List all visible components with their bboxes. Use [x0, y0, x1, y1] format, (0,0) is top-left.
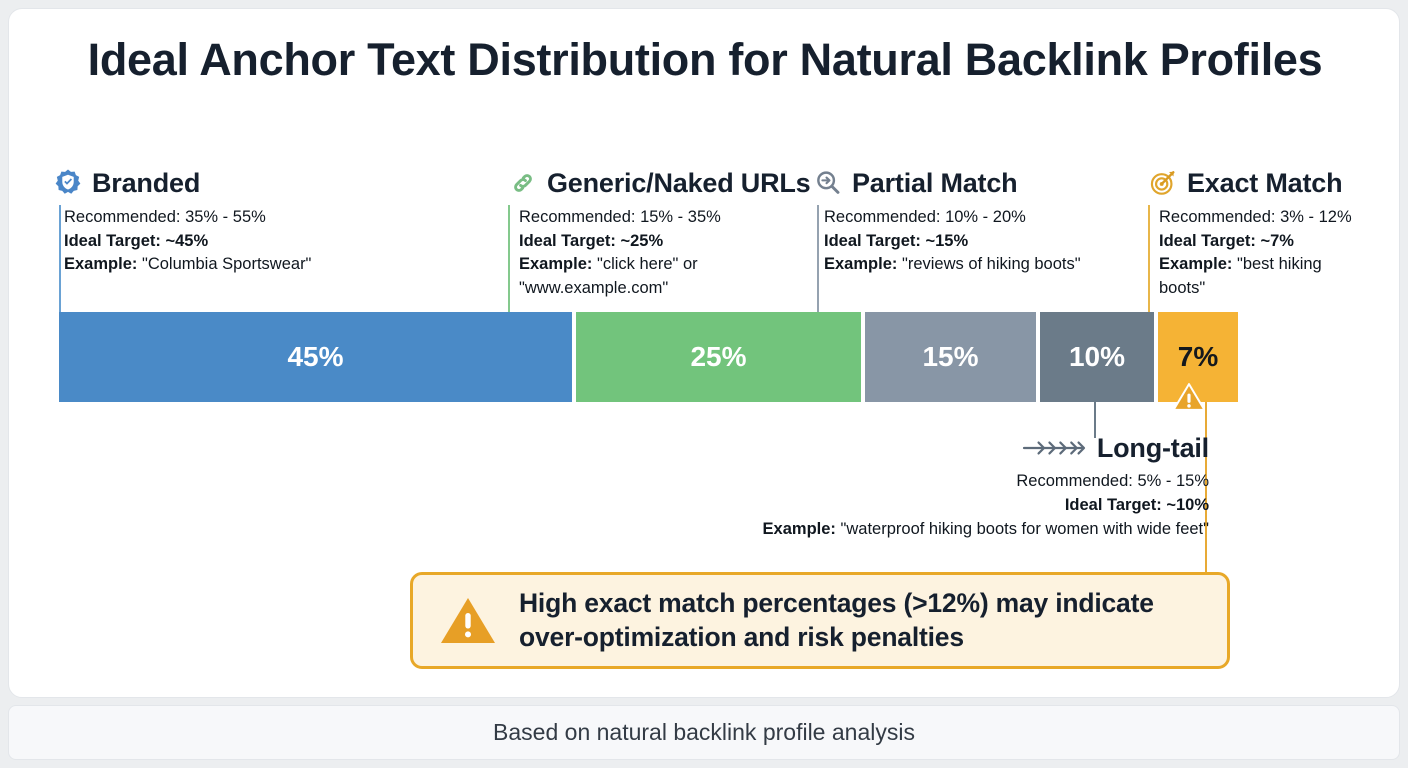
recommended-label: Recommended: — [1016, 472, 1132, 490]
long-tail-header: Long-tail — [609, 431, 1209, 465]
recommended-label: Recommended: — [519, 208, 635, 226]
ideal-target-value: ~15% — [925, 232, 968, 250]
example-value: "reviews of hiking boots" — [902, 255, 1081, 273]
category-name: Exact Match — [1187, 168, 1342, 199]
warning-triangle-icon — [439, 595, 497, 647]
magnifier-arrow-icon — [813, 168, 843, 198]
bar-segment-partial[interactable]: 15% — [865, 312, 1036, 402]
footer-bar: Based on natural backlink profile analys… — [8, 705, 1400, 760]
long-tail-name: Long-tail — [1097, 433, 1209, 464]
ideal-target-value: ~10% — [1166, 496, 1209, 514]
link-chain-icon — [508, 168, 538, 198]
category-panel-branded: Branded Recommended: 35% - 55% Ideal Tar… — [53, 164, 508, 306]
category-name: Branded — [92, 168, 200, 199]
bar-segment-value: 7% — [1178, 341, 1218, 373]
ideal-target-value: ~7% — [1260, 232, 1293, 250]
ideal-target-label: Ideal Target: — [824, 232, 921, 250]
category-panels: Branded Recommended: 35% - 55% Ideal Tar… — [53, 164, 1233, 309]
warning-callout-text: High exact match percentages (>12%) may … — [519, 587, 1154, 653]
example-label: Example: — [519, 255, 592, 273]
connector-rule-branded — [59, 205, 61, 312]
ideal-target-label: Ideal Target: — [1065, 496, 1162, 514]
long-tail-panel: Long-tail Recommended: 5% - 15% Ideal Ta… — [609, 431, 1209, 541]
recommended-value: 35% - 55% — [185, 208, 266, 226]
ideal-target-label: Ideal Target: — [1159, 232, 1256, 250]
recommended-value: 10% - 20% — [945, 208, 1026, 226]
bar-segment-value: 25% — [690, 341, 746, 373]
category-name: Partial Match — [852, 168, 1017, 199]
example-value: "Columbia Sportswear" — [142, 255, 311, 273]
recommended-value: 3% - 12% — [1280, 208, 1352, 226]
category-details-partial: Recommended: 10% - 20% Ideal Target: ~15… — [813, 206, 1148, 306]
multi-arrow-right-icon — [1021, 438, 1087, 458]
ideal-target-value: ~25% — [620, 232, 663, 250]
page-title: Ideal Anchor Text Distribution for Natur… — [9, 34, 1401, 86]
category-header-branded: Branded — [53, 164, 508, 202]
recommended-label: Recommended: — [64, 208, 180, 226]
bar-segment-generic[interactable]: 25% — [576, 312, 861, 402]
bar-segment-value: 45% — [287, 341, 343, 373]
connector-rule-exact — [1148, 205, 1150, 312]
category-panel-exact-match: Exact Match Recommended: 3% - 12% Ideal … — [1148, 164, 1393, 306]
ideal-target-label: Ideal Target: — [519, 232, 616, 250]
category-header-exact: Exact Match — [1148, 164, 1393, 202]
long-tail-details: Recommended: 5% - 15% Ideal Target: ~10%… — [609, 470, 1209, 541]
warning-callout: High exact match percentages (>12%) may … — [410, 572, 1230, 669]
warning-triangle-icon — [1172, 382, 1206, 412]
infographic-page: Ideal Anchor Text Distribution for Natur… — [0, 0, 1408, 768]
ideal-target-value: ~45% — [165, 232, 208, 250]
category-name: Generic/Naked URLs — [547, 168, 811, 199]
category-header-generic: Generic/Naked URLs — [508, 164, 813, 202]
warning-line-1: High exact match percentages (>12%) may … — [519, 587, 1154, 620]
recommended-label: Recommended: — [1159, 208, 1275, 226]
warning-line-2: over-optimization and risk penalties — [519, 621, 1154, 654]
category-details-branded: Recommended: 35% - 55% Ideal Target: ~45… — [53, 206, 508, 306]
stacked-bar-chart: 45% 25% 15% 10% 7% — [59, 312, 1231, 402]
example-label: Example: — [1159, 255, 1232, 273]
connector-rule-generic — [508, 205, 510, 312]
example-label: Example: — [824, 255, 897, 273]
example-label: Example: — [64, 255, 137, 273]
category-header-partial: Partial Match — [813, 164, 1148, 202]
bar-segment-long-tail[interactable]: 10% — [1040, 312, 1154, 402]
target-arrow-icon — [1148, 168, 1178, 198]
example-label: Example: — [763, 520, 836, 538]
recommended-value: 15% - 35% — [640, 208, 721, 226]
recommended-label: Recommended: — [824, 208, 940, 226]
connector-rule-partial — [817, 205, 819, 312]
footer-text: Based on natural backlink profile analys… — [493, 719, 915, 746]
category-panel-partial-match: Partial Match Recommended: 10% - 20% Ide… — [813, 164, 1148, 306]
verified-badge-icon — [53, 168, 83, 198]
category-details-generic: Recommended: 15% - 35% Ideal Target: ~25… — [508, 206, 813, 306]
main-card: Ideal Anchor Text Distribution for Natur… — [8, 8, 1400, 698]
bar-segment-value: 10% — [1069, 341, 1125, 373]
bar-segment-value: 15% — [922, 341, 978, 373]
recommended-value: 5% - 15% — [1137, 472, 1209, 490]
example-value: "waterproof hiking boots for women with … — [841, 520, 1209, 538]
category-panel-generic-naked-urls: Generic/Naked URLs Recommended: 15% - 35… — [508, 164, 813, 306]
bar-segment-branded[interactable]: 45% — [59, 312, 572, 402]
category-details-exact: Recommended: 3% - 12% Ideal Target: ~7% … — [1148, 206, 1393, 306]
ideal-target-label: Ideal Target: — [64, 232, 161, 250]
